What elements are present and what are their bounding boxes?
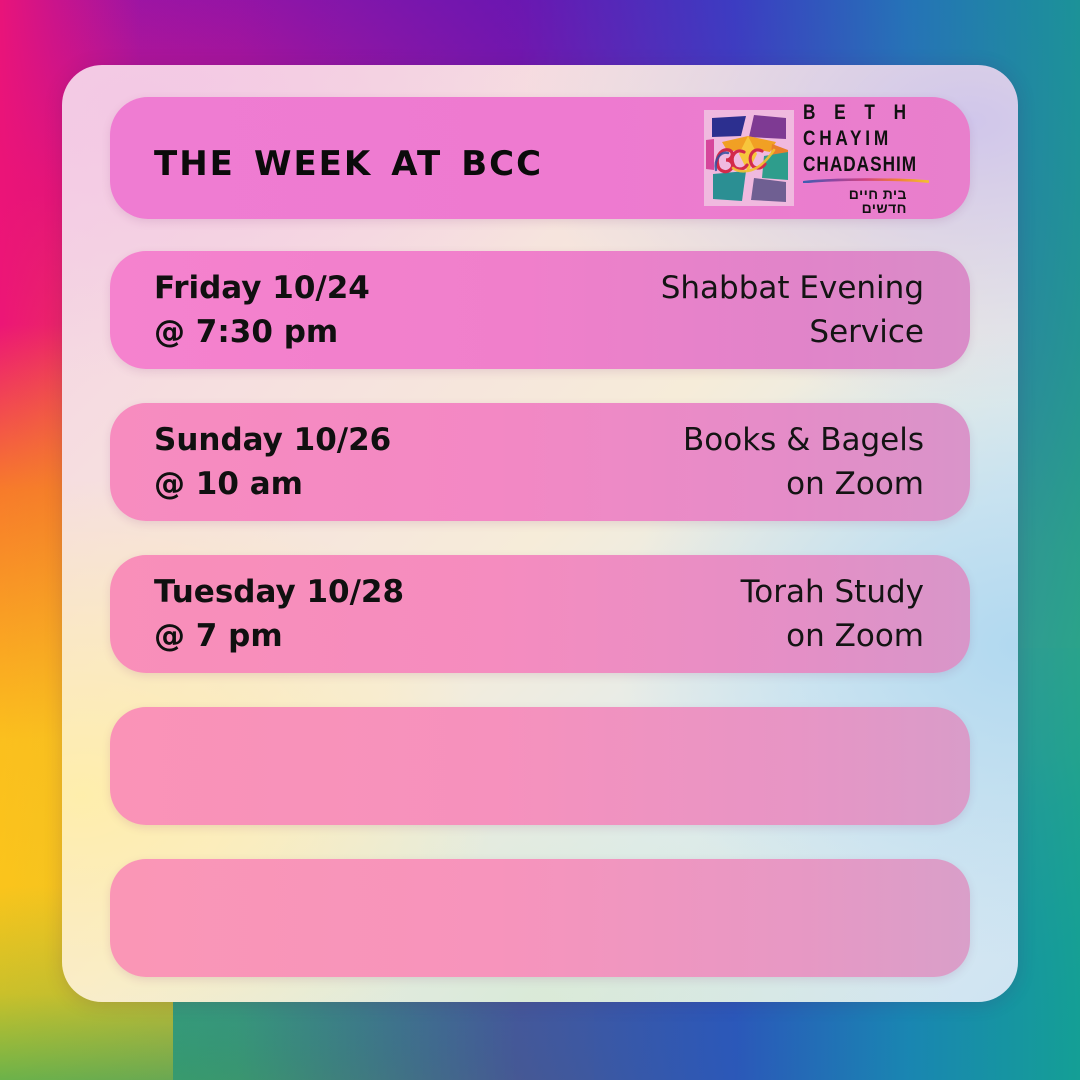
schedule-row[interactable]: Sunday 10/26 @ 10 am Books & Bagels on Z…: [110, 403, 970, 521]
logo-line-chadashim: CHADASHIM: [803, 154, 917, 175]
bcc-star-of-david-mosaic-icon: [702, 106, 796, 210]
page-title: The week at BCC: [154, 134, 543, 183]
logo-swoosh-icon: [803, 178, 929, 183]
event-when: Tuesday 10/28 @ 7 pm: [154, 570, 404, 658]
event-time: @ 7:30 pm: [154, 310, 370, 354]
logo-hebrew-name: בית חיים חדשים: [803, 187, 907, 215]
schedule-card: The week at BCC: [62, 65, 1018, 1002]
bcc-logo: B E T H CHAYIM CHADASHIM: [702, 106, 942, 210]
event-time: @ 10 am: [154, 462, 391, 506]
schedule-row-empty[interactable]: [110, 707, 970, 825]
event-name-line1: Books & Bagels: [683, 418, 924, 462]
schedule-row-empty[interactable]: [110, 859, 970, 977]
event-when: Friday 10/24 @ 7:30 pm: [154, 266, 370, 354]
event-time: @ 7 pm: [154, 614, 404, 658]
event-when: Sunday 10/26 @ 10 am: [154, 418, 391, 506]
event-what: Torah Study on Zoom: [741, 570, 924, 658]
event-date: Tuesday 10/28: [154, 570, 404, 614]
event-name-line1: Shabbat Evening: [661, 266, 924, 310]
schedule-row[interactable]: Tuesday 10/28 @ 7 pm Torah Study on Zoom: [110, 555, 970, 673]
event-name-line1: Torah Study: [741, 570, 924, 614]
event-name-line2: Service: [661, 310, 924, 354]
poster-canvas: The week at BCC: [0, 0, 1080, 1080]
logo-line-beth: B E T H: [803, 102, 917, 123]
event-name-line2: on Zoom: [683, 462, 924, 506]
event-what: Books & Bagels on Zoom: [683, 418, 924, 506]
title-bar: The week at BCC: [110, 97, 970, 219]
schedule-row[interactable]: Friday 10/24 @ 7:30 pm Shabbat Evening S…: [110, 251, 970, 369]
logo-line-chayim: CHAYIM: [803, 128, 917, 149]
bcc-wordmark: B E T H CHAYIM CHADASHIM: [803, 102, 942, 215]
event-what: Shabbat Evening Service: [661, 266, 924, 354]
event-name-line2: on Zoom: [741, 614, 924, 658]
event-date: Sunday 10/26: [154, 418, 391, 462]
event-date: Friday 10/24: [154, 266, 370, 310]
